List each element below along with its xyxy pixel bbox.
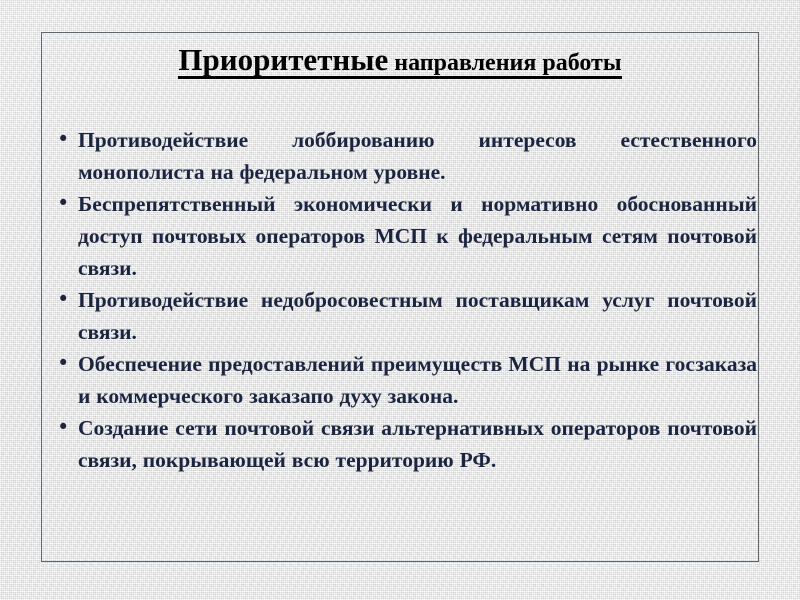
list-item-text: Противодействие лоббированию интересов е… bbox=[78, 124, 757, 188]
bullet-dot-icon: • bbox=[57, 123, 78, 155]
list-item-text: Обеспечение предоставлений преимуществ М… bbox=[78, 348, 757, 412]
list-item-text: Беспрепятственный экономически и нормати… bbox=[78, 188, 757, 284]
bullet-dot-icon: • bbox=[57, 283, 78, 315]
list-item: • Создание сети почтовой связи альтернат… bbox=[57, 412, 757, 476]
slide-title-underline: Приоритетные направления работы bbox=[178, 44, 621, 79]
list-item: • Беспрепятственный экономически и норма… bbox=[57, 188, 757, 284]
bullet-dot-icon: • bbox=[57, 347, 78, 379]
slide-title-rest: направления работы bbox=[388, 50, 621, 76]
list-item: • Противодействие недобросовестным поста… bbox=[57, 284, 757, 348]
list-item-text: Противодействие недобросовестным поставщ… bbox=[78, 284, 757, 348]
slide-title-emphasis: Приоритетные bbox=[178, 42, 388, 77]
slide-title: Приоритетные направления работы bbox=[41, 44, 759, 79]
slide-canvas: Приоритетные направления работы • Против… bbox=[0, 0, 800, 600]
bullet-dot-icon: • bbox=[57, 411, 78, 443]
list-item-text: Создание сети почтовой связи альтернатив… bbox=[78, 412, 757, 476]
bullet-dot-icon: • bbox=[57, 187, 78, 219]
list-item: • Противодействие лоббированию интересов… bbox=[57, 124, 757, 188]
bullet-list: • Противодействие лоббированию интересов… bbox=[57, 124, 757, 476]
list-item: • Обеспечение предоставлений преимуществ… bbox=[57, 348, 757, 412]
